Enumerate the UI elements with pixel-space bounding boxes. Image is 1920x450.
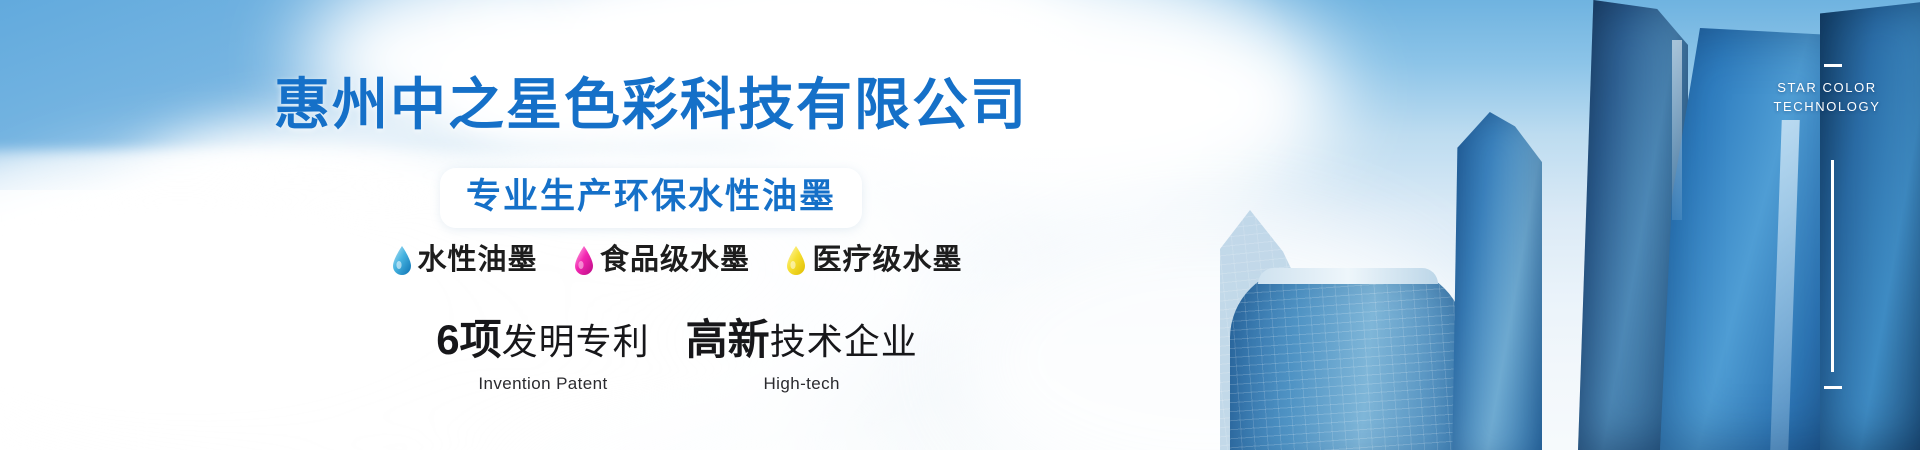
- badge-strong-text: 高新: [686, 316, 770, 363]
- feature-list: 水性油墨 食品级水墨: [52, 243, 1302, 277]
- right-label-line-2: TECHNOLOGY: [1752, 97, 1902, 116]
- water-drop-icon: [574, 245, 594, 275]
- feature-label: 食品级水墨: [600, 243, 750, 277]
- building-right-slab: [1820, 0, 1920, 450]
- skyscraper-photo: STAR COLOR TECHNOLOGY: [1220, 0, 1920, 450]
- feature-item: 食品级水墨: [574, 243, 750, 277]
- company-banner: Star Color STAR COLOR TECHNOLOGY 惠州: [0, 0, 1920, 450]
- company-title: 惠州中之星色彩科技有限公司: [0, 60, 1250, 141]
- subtitle-pill-wrapper: 专业生产环保水性油墨: [0, 168, 1250, 228]
- subtitle-pill-text: 专业生产环保水性油墨: [466, 177, 836, 216]
- star-color-technology-label: STAR COLOR TECHNOLOGY: [1752, 78, 1902, 116]
- badge-strong-text: 6项: [436, 316, 501, 363]
- badge-main-line: 高新技术企业: [686, 318, 918, 372]
- badge-subtext: Invention Patent: [436, 374, 649, 394]
- banner-content: 惠州中之星色彩科技有限公司 专业生产环保水性油墨 水性油墨: [0, 0, 1250, 450]
- badge-subtext: High-tech: [686, 374, 918, 394]
- building-highlight-strip: [1672, 40, 1682, 220]
- badge-list: 6项发明专利 Invention Patent 高新技术企业 High-tech: [52, 318, 1302, 394]
- right-label-line-1: STAR COLOR: [1752, 78, 1902, 97]
- building-mid-tower: [1452, 112, 1542, 450]
- company-title-text: 惠州中之星色彩科技有限公司: [222, 73, 1028, 136]
- badge-light-text: 技术企业: [770, 321, 918, 362]
- feature-label: 医疗级水墨: [812, 243, 962, 277]
- feature-label: 水性油墨: [418, 243, 538, 277]
- badge-high-tech: 高新技术企业 High-tech: [686, 318, 918, 394]
- tick-mark-top: [1824, 64, 1842, 67]
- subtitle-pill: 专业生产环保水性油墨: [440, 168, 862, 228]
- badge-main-line: 6项发明专利: [436, 318, 649, 372]
- feature-item: 医疗级水墨: [786, 243, 962, 277]
- tick-mark-line: [1831, 160, 1834, 372]
- badge-light-text: 发明专利: [502, 321, 650, 362]
- feature-item: 水性油墨: [392, 243, 538, 277]
- tick-mark-bottom: [1824, 386, 1842, 389]
- badge-invention-patent: 6项发明专利 Invention Patent: [436, 318, 649, 394]
- water-drop-icon: [392, 245, 412, 275]
- water-drop-icon: [786, 245, 806, 275]
